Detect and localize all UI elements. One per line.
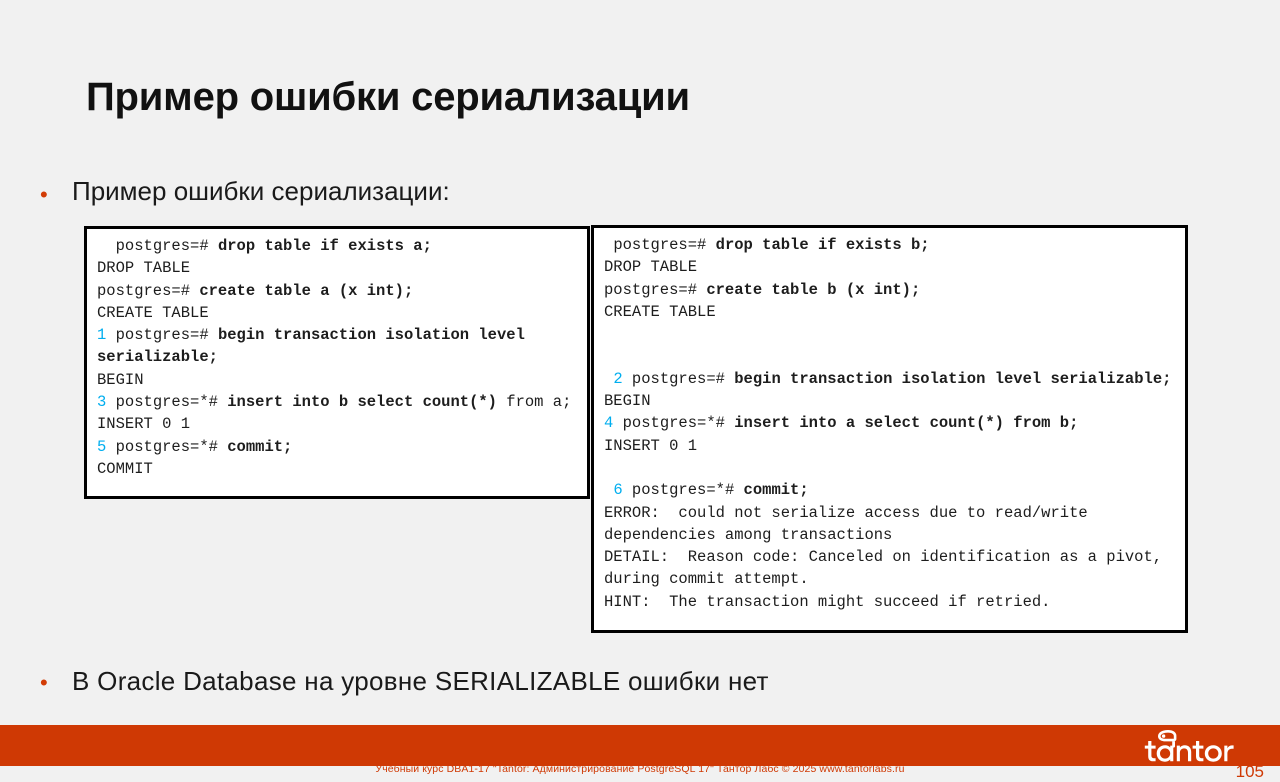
console-output-text: postgres=#: [604, 281, 706, 299]
console-output-text: DROP TABLE: [604, 258, 697, 276]
console-command-text: drop table if exists a;: [218, 237, 432, 255]
console-output-text: INSERT 0 1: [604, 437, 697, 455]
console-output-text: COMMIT: [97, 460, 153, 478]
console-line: [604, 457, 1177, 479]
console-output-text: postgres=#: [623, 370, 735, 388]
console-line: 5 postgres=*# commit;: [97, 436, 579, 458]
console-line: HINT: The transaction might succeed if r…: [604, 591, 1177, 613]
bullet-item-second: • В Oracle Database на уровне SERIALIZAB…: [40, 666, 769, 697]
console-output-text: postgres=*#: [106, 438, 227, 456]
console-command-text: commit;: [744, 481, 809, 499]
console-line: postgres=# drop table if exists a;: [97, 235, 579, 257]
console-line: 2 postgres=# begin transaction isolation…: [604, 368, 1177, 390]
console-command-text: create table a (x int);: [199, 282, 413, 300]
console-output-text: postgres=#: [106, 326, 218, 344]
console-line: postgres=# create table b (x int);: [604, 279, 1177, 301]
prompt-sequence-number: 2: [604, 370, 623, 388]
console-line: postgres=# create table a (x int);: [97, 280, 579, 302]
console-line: CREATE TABLE: [97, 302, 579, 324]
prompt-sequence-number: 5: [97, 438, 106, 456]
prompt-sequence-number: 1: [97, 326, 106, 344]
console-command-text: commit;: [227, 438, 292, 456]
console-line: INSERT 0 1: [604, 435, 1177, 457]
prompt-sequence-number: 3: [97, 393, 106, 411]
prompt-sequence-number: 4: [604, 414, 613, 432]
console-command-text: insert into a select count(*) from b;: [734, 414, 1078, 432]
page-number: 105: [1236, 762, 1264, 782]
bullet-text-second: В Oracle Database на уровне SERIALIZABLE…: [72, 666, 769, 697]
console-output-text: postgres=*#: [623, 481, 744, 499]
console-line: 1 postgres=# begin transaction isolation…: [97, 324, 579, 369]
bullet-marker-icon: •: [40, 666, 72, 694]
console-output-text: DETAIL: Reason code: Canceled on identif…: [604, 548, 1171, 588]
console-output-text: BEGIN: [604, 392, 651, 410]
console-output-text: postgres=#: [604, 236, 716, 254]
console-output-text: postgres=#: [97, 282, 199, 300]
console-output-text: HINT: The transaction might succeed if r…: [604, 593, 1050, 611]
bullet-item-first: • Пример ошибки сериализации:: [40, 176, 450, 207]
prompt-sequence-number: 6: [604, 481, 623, 499]
tantor-logo: [1142, 728, 1260, 764]
console-line: DROP TABLE: [97, 257, 579, 279]
console-output-text: INSERT 0 1: [97, 415, 190, 433]
console-command-text: begin transaction isolation level serial…: [734, 370, 1171, 388]
console-output-text: DROP TABLE: [97, 259, 190, 277]
console-line: BEGIN: [97, 369, 579, 391]
console-line: 4 postgres=*# insert into a select count…: [604, 412, 1177, 434]
console-line: [604, 323, 1177, 345]
console-output-text: postgres=#: [97, 237, 218, 255]
console-line: INSERT 0 1: [97, 413, 579, 435]
console-output-text: CREATE TABLE: [97, 304, 209, 322]
console-output-text: postgres=*#: [106, 393, 227, 411]
bullet-text-first: Пример ошибки сериализации:: [72, 176, 450, 207]
footer-course-note: Учебный курс DBA1-17 "Tantor: Администри…: [0, 763, 1280, 775]
console-line: DETAIL: Reason code: Canceled on identif…: [604, 546, 1177, 591]
console-output-text: CREATE TABLE: [604, 303, 716, 321]
console-output-text: from a;: [506, 393, 571, 411]
bullet-marker-icon: •: [40, 176, 72, 206]
console-line: 3 postgres=*# insert into b select count…: [97, 391, 579, 413]
console-command-text: create table b (x int);: [706, 281, 920, 299]
console-line: COMMIT: [97, 458, 579, 480]
console-command-text: drop table if exists b;: [716, 236, 930, 254]
console-line: 6 postgres=*# commit;: [604, 479, 1177, 501]
footer-accent-bar: [0, 725, 1280, 766]
console-output-text: postgres=*#: [613, 414, 734, 432]
console-command-text: insert into b select count(*): [227, 393, 506, 411]
console-output-text: ERROR: could not serialize access due to…: [604, 504, 1097, 544]
console-line: CREATE TABLE: [604, 301, 1177, 323]
console-panel-session-one: postgres=# drop table if exists a;DROP T…: [84, 226, 590, 499]
console-line: DROP TABLE: [604, 256, 1177, 278]
console-line: BEGIN: [604, 390, 1177, 412]
console-output-text: BEGIN: [97, 371, 144, 389]
console-panel-session-two: postgres=# drop table if exists b;DROP T…: [591, 225, 1188, 633]
console-line: postgres=# drop table if exists b;: [604, 234, 1177, 256]
console-line: [604, 345, 1177, 367]
page-title: Пример ошибки сериализации: [86, 75, 690, 120]
console-line: ERROR: could not serialize access due to…: [604, 502, 1177, 547]
slide-canvas: Пример ошибки сериализации • Пример ошиб…: [0, 0, 1280, 781]
